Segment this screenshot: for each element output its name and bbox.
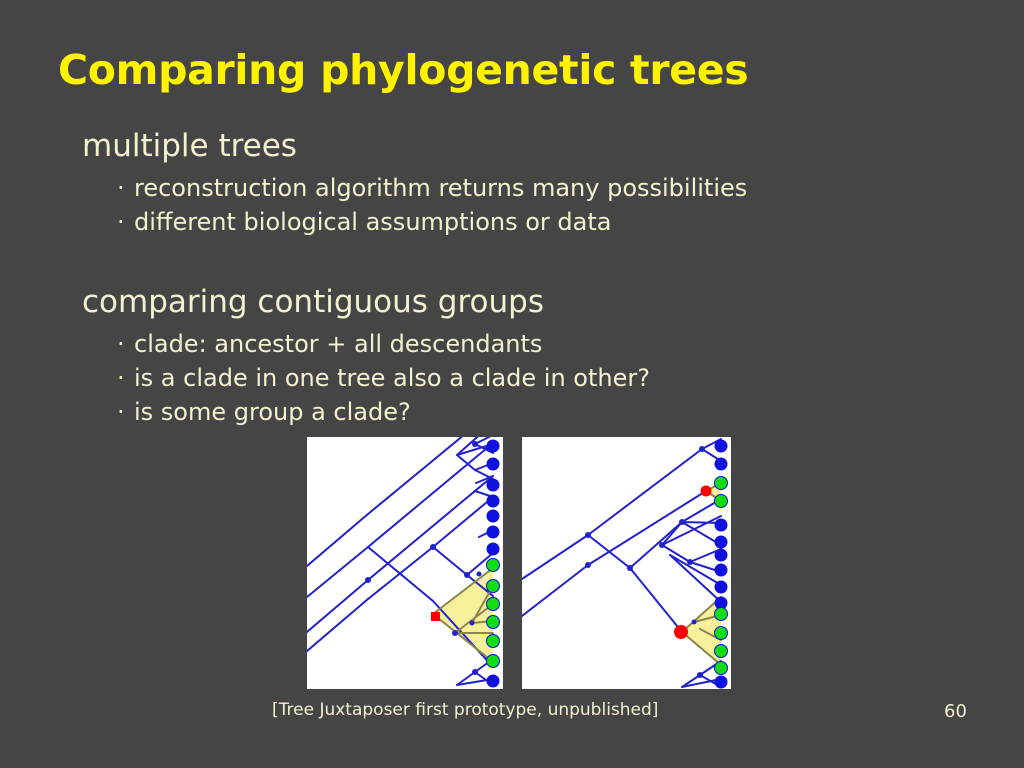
leaf-node: [487, 458, 500, 471]
leaf-node-marked: [487, 616, 500, 629]
phylogenetic-tree-figure: [307, 437, 732, 689]
leaf-node-marked: [715, 608, 728, 621]
left-tree-branches: [307, 437, 493, 680]
leaf-node: [715, 564, 728, 577]
list-item: · is some group a clade?: [134, 395, 650, 429]
right-tree-leaves: [715, 440, 728, 689]
section-multiple-trees: multiple trees · reconstruction algorith…: [82, 131, 747, 239]
leaf-node-marked: [487, 598, 500, 611]
leaf-node-marked: [487, 655, 500, 668]
bullet-list: · reconstruction algorithm returns many …: [82, 171, 747, 239]
leaf-node: [487, 510, 500, 523]
left-tree-svg: [307, 437, 503, 689]
leaf-node: [487, 675, 500, 688]
leaf-node: [715, 549, 728, 562]
leaf-node-marked: [715, 477, 728, 490]
leaf-node: [715, 519, 728, 532]
right-tree-branches: [522, 439, 721, 632]
list-item: · is a clade in one tree also a clade in…: [134, 361, 650, 395]
leaf-node: [715, 458, 728, 471]
leaf-node-marked: [487, 635, 500, 648]
page-title: Comparing phylogenetic trees: [58, 46, 748, 94]
bullet-marker-icon: ·: [117, 361, 125, 395]
section-heading: multiple trees: [82, 131, 747, 162]
right-tree-internal-nodes: [585, 446, 705, 678]
section-heading: comparing contiguous groups: [82, 287, 650, 318]
list-item: · different biological assumptions or da…: [134, 205, 747, 239]
marked-ancestor-node[interactable]: [701, 486, 712, 497]
list-item-label: is some group a clade?: [134, 398, 411, 426]
tree-panel-left[interactable]: [307, 437, 503, 689]
leaf-node: [487, 440, 500, 453]
marked-ancestor-node[interactable]: [674, 625, 688, 639]
list-item: · reconstruction algorithm returns many …: [134, 171, 747, 205]
leaf-node-marked: [487, 580, 500, 593]
figure-caption: [Tree Juxtaposer first prototype, unpubl…: [272, 700, 658, 720]
bullet-list: · clade: ancestor + all descendants · is…: [82, 327, 650, 429]
leaf-node-marked: [715, 495, 728, 508]
leaf-node: [487, 495, 500, 508]
right-tree-svg: [522, 437, 731, 689]
marked-ancestor-node[interactable]: [431, 612, 440, 621]
leaf-node-marked: [487, 559, 500, 572]
leaf-node: [487, 543, 500, 556]
leaf-node: [715, 536, 728, 549]
right-tree-branches-mid: [670, 522, 721, 602]
section-comparing-contiguous-groups: comparing contiguous groups · clade: anc…: [82, 287, 650, 429]
bullet-marker-icon: ·: [117, 171, 125, 205]
leaf-node: [715, 581, 728, 594]
list-item-label: different biological assumptions or data: [134, 208, 611, 236]
bullet-marker-icon: ·: [117, 395, 125, 429]
leaf-node-marked: [715, 645, 728, 658]
leaf-node-marked: [715, 627, 728, 640]
bullet-marker-icon: ·: [117, 205, 125, 239]
list-item-label: reconstruction algorithm returns many po…: [134, 174, 747, 202]
leaf-node-marked: [715, 662, 728, 675]
page-number: 60: [944, 701, 967, 722]
leaf-node: [487, 526, 500, 539]
leaf-node: [715, 440, 728, 453]
tree-panel-right[interactable]: [522, 437, 731, 689]
slide: Comparing phylogenetic trees multiple tr…: [0, 0, 1024, 768]
leaf-node: [715, 676, 728, 689]
list-item: · clade: ancestor + all descendants: [134, 327, 650, 361]
leaf-node: [487, 479, 500, 492]
bullet-marker-icon: ·: [117, 327, 125, 361]
list-item-label: clade: ancestor + all descendants: [134, 330, 542, 358]
left-tree-highlight: [433, 568, 493, 662]
list-item-label: is a clade in one tree also a clade in o…: [134, 364, 650, 392]
